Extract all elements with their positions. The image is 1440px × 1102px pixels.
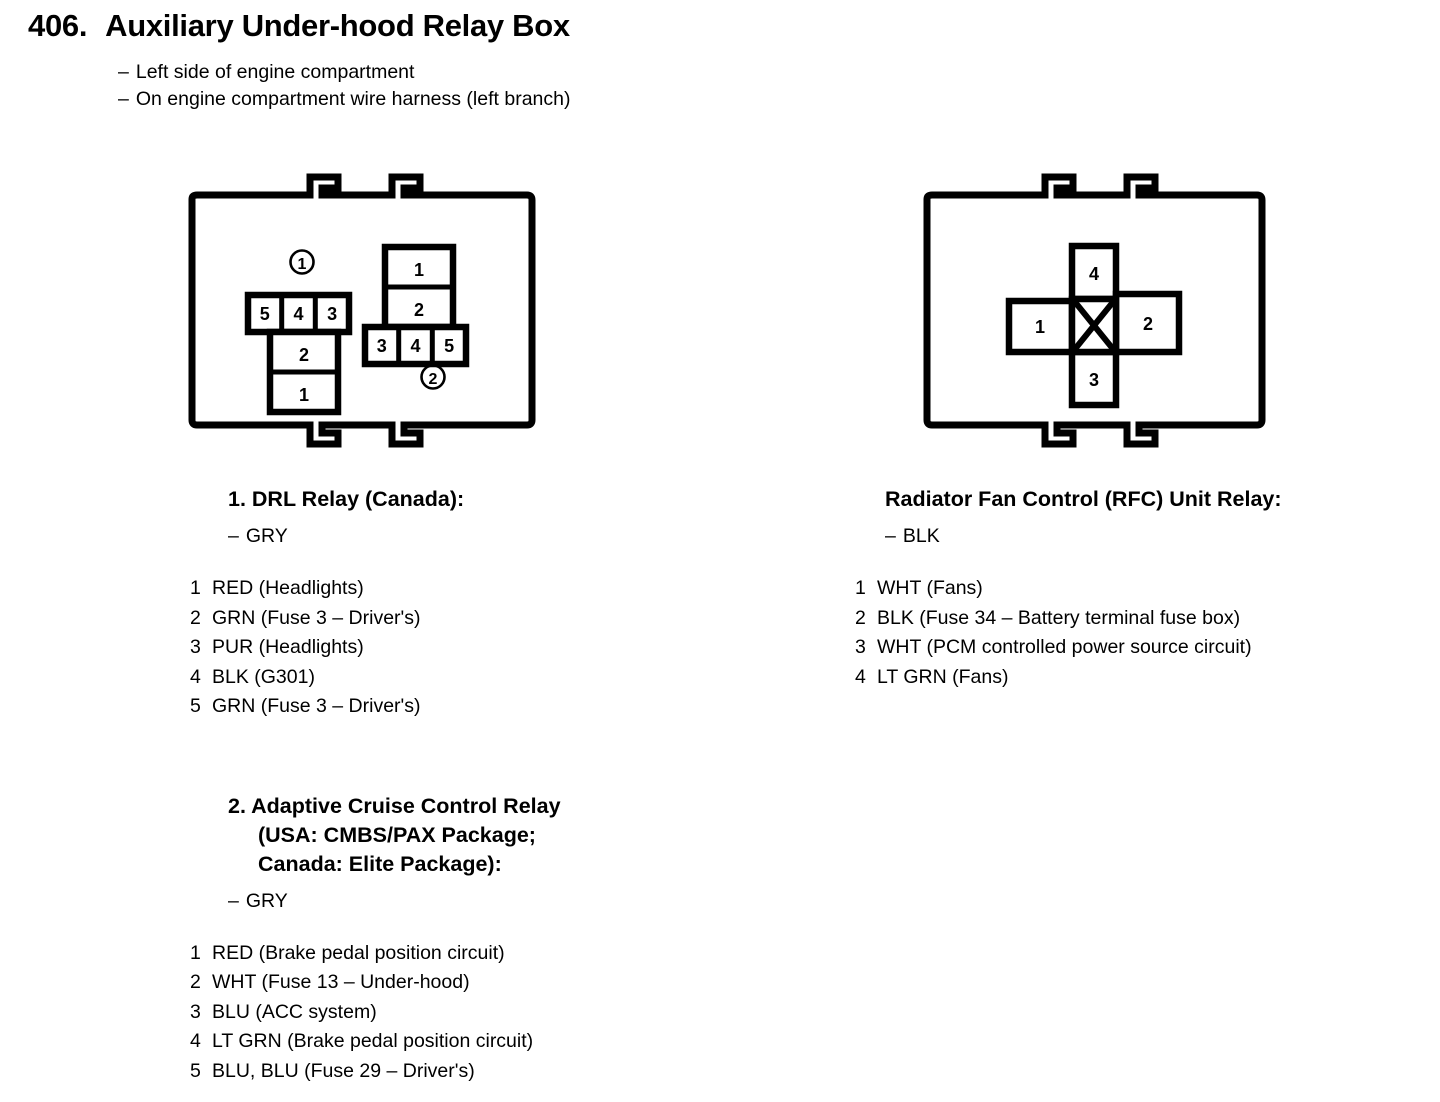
- pin-number: 2: [855, 604, 877, 634]
- pin-row: 5 GRN (Fuse 3 – Driver's): [190, 692, 830, 722]
- drl-relay-block: 1. DRL Relay (Canada): –GRY 1 RED (Headl…: [190, 485, 830, 722]
- pin-number: 1: [855, 574, 877, 604]
- connector-1-pin-4: 4: [293, 304, 303, 324]
- acc-relay-color-value: GRY: [246, 890, 288, 912]
- pin-row: 3 BLU (ACC system): [190, 998, 830, 1028]
- pin-row: 4 LT GRN (Brake pedal position circuit): [190, 1027, 830, 1057]
- connector-2-pin-4: 4: [410, 336, 420, 356]
- pin-description: GRN (Fuse 3 – Driver's): [212, 604, 421, 634]
- connector-2-pin-5: 5: [444, 336, 454, 356]
- bullet-dash: –: [228, 890, 239, 912]
- bullet-dash: –: [885, 525, 896, 547]
- pin-number: 4: [190, 663, 212, 693]
- bullet-dash: –: [228, 525, 239, 547]
- pin-row: 4 BLK (G301): [190, 663, 830, 693]
- pin-number: 3: [190, 998, 212, 1028]
- drl-relay-pin-list: 1 RED (Headlights) 2 GRN (Fuse 3 – Drive…: [190, 574, 830, 722]
- drl-relay-color-value: GRY: [246, 525, 288, 547]
- callout-label-1: 1: [298, 256, 307, 273]
- pin-number: 4: [855, 663, 877, 693]
- page-title-text: Auxiliary Under-hood Relay Box: [105, 8, 570, 44]
- pin-number: 1: [190, 574, 212, 604]
- pin-description: PUR (Headlights): [212, 633, 364, 663]
- left-relay-box-diagram: 1 5 4 3 2 1 1 2: [170, 165, 550, 470]
- rfc-relay-heading: Radiator Fan Control (RFC) Unit Relay:: [885, 485, 1435, 514]
- callout-circle-1: 1: [291, 251, 314, 274]
- connector-1-pin-5: 5: [260, 304, 270, 324]
- pin-description: BLU (ACC system): [212, 998, 377, 1028]
- callout-circle-2: 2: [422, 366, 445, 389]
- left-text-column: 1. DRL Relay (Canada): –GRY 1 RED (Headl…: [190, 485, 830, 1102]
- pin-row: 1 WHT (Fans): [855, 574, 1435, 604]
- pin-row: 5 BLU, BLU (Fuse 29 – Driver's): [190, 1057, 830, 1087]
- location-note-text: On engine compartment wire harness (left…: [136, 88, 571, 110]
- pin-row: 4 LT GRN (Fans): [855, 663, 1435, 693]
- rfc-relay-pin-list: 1 WHT (Fans) 2 BLK (Fuse 34 – Battery te…: [855, 574, 1435, 692]
- location-note: –Left side of engine compartment: [118, 59, 570, 86]
- acc-relay-heading-line-1: 2. Adaptive Cruise Control Relay: [228, 792, 830, 821]
- location-notes: –Left side of engine compartment –On eng…: [118, 59, 570, 113]
- pin-number: 4: [190, 1027, 212, 1057]
- callout-label-2: 2: [429, 371, 438, 388]
- page-title: 406. Auxiliary Under-hood Relay Box: [28, 8, 570, 44]
- pin-description: BLK (G301): [212, 663, 315, 693]
- right-relay-box-svg: 4 1 2 3: [905, 165, 1285, 465]
- connector-2-pin-1: 1: [414, 260, 424, 280]
- pin-description: RED (Brake pedal position circuit): [212, 939, 505, 969]
- right-text-column: Radiator Fan Control (RFC) Unit Relay: –…: [855, 485, 1435, 708]
- pin-description: BLK (Fuse 34 – Battery terminal fuse box…: [877, 604, 1240, 634]
- connector-2-pin-2: 2: [414, 300, 424, 320]
- acc-relay-block: 2. Adaptive Cruise Control Relay (USA: C…: [190, 792, 830, 1087]
- rfc-cross-connector: 4 1 2 3: [1009, 246, 1179, 405]
- pin-row: 1 RED (Headlights): [190, 574, 830, 604]
- drl-relay-color: –GRY: [228, 525, 830, 548]
- page-title-number: 406.: [28, 8, 87, 44]
- acc-relay-heading-line-3: Canada: Elite Package):: [258, 850, 830, 879]
- pin-row: 3 PUR (Headlights): [190, 633, 830, 663]
- pin-description: WHT (PCM controlled power source circuit…: [877, 633, 1252, 663]
- pin-description: RED (Headlights): [212, 574, 364, 604]
- connector-2-pin-3: 3: [377, 336, 387, 356]
- pin-number: 2: [190, 968, 212, 998]
- pin-number: 5: [190, 1057, 212, 1087]
- pin-description: WHT (Fuse 13 – Under-hood): [212, 968, 470, 998]
- pin-description: LT GRN (Fans): [877, 663, 1008, 693]
- connector-2: 1 2 3 4 5: [365, 247, 466, 364]
- pin-number: 3: [190, 633, 212, 663]
- rfc-pin-3: 3: [1089, 370, 1099, 390]
- bullet-dash: –: [118, 88, 129, 110]
- rfc-pin-2: 2: [1143, 314, 1153, 334]
- drl-relay-heading: 1. DRL Relay (Canada):: [228, 485, 830, 514]
- connector-1-pin-3: 3: [327, 304, 337, 324]
- pin-description: LT GRN (Brake pedal position circuit): [212, 1027, 533, 1057]
- pin-row: 2 WHT (Fuse 13 – Under-hood): [190, 968, 830, 998]
- bullet-dash: –: [118, 61, 129, 83]
- rfc-relay-color-value: BLK: [903, 525, 940, 547]
- pin-row: 1 RED (Brake pedal position circuit): [190, 939, 830, 969]
- acc-relay-pin-list: 1 RED (Brake pedal position circuit) 2 W…: [190, 939, 830, 1087]
- pin-number: 1: [190, 939, 212, 969]
- relay-box-outline: [192, 177, 532, 444]
- pin-row: 3 WHT (PCM controlled power source circu…: [855, 633, 1435, 663]
- connector-1-pin-1: 1: [299, 385, 309, 405]
- pin-row: 2 GRN (Fuse 3 – Driver's): [190, 604, 830, 634]
- block-spacer: [190, 738, 830, 792]
- pin-description: BLU, BLU (Fuse 29 – Driver's): [212, 1057, 475, 1087]
- rfc-pin-4: 4: [1089, 264, 1099, 284]
- connector-1-pin-2: 2: [299, 345, 309, 365]
- location-note-text: Left side of engine compartment: [136, 61, 415, 83]
- pin-number: 2: [190, 604, 212, 634]
- pin-description: GRN (Fuse 3 – Driver's): [212, 692, 421, 722]
- acc-relay-heading-line-2: (USA: CMBS/PAX Package;: [258, 821, 830, 850]
- rfc-relay-color: –BLK: [885, 525, 1435, 548]
- location-note: –On engine compartment wire harness (lef…: [118, 86, 570, 113]
- left-relay-box-svg: 1 5 4 3 2 1 1 2: [170, 165, 550, 465]
- pin-number: 3: [855, 633, 877, 663]
- acc-relay-color: –GRY: [228, 890, 830, 913]
- right-relay-box-diagram: 4 1 2 3: [905, 165, 1285, 470]
- rfc-pin-1: 1: [1035, 317, 1045, 337]
- pin-description: WHT (Fans): [877, 574, 983, 604]
- pin-row: 2 BLK (Fuse 34 – Battery terminal fuse b…: [855, 604, 1435, 634]
- rfc-relay-block: Radiator Fan Control (RFC) Unit Relay: –…: [855, 485, 1435, 692]
- pin-number: 5: [190, 692, 212, 722]
- connector-1: 5 4 3 2 1: [248, 295, 349, 412]
